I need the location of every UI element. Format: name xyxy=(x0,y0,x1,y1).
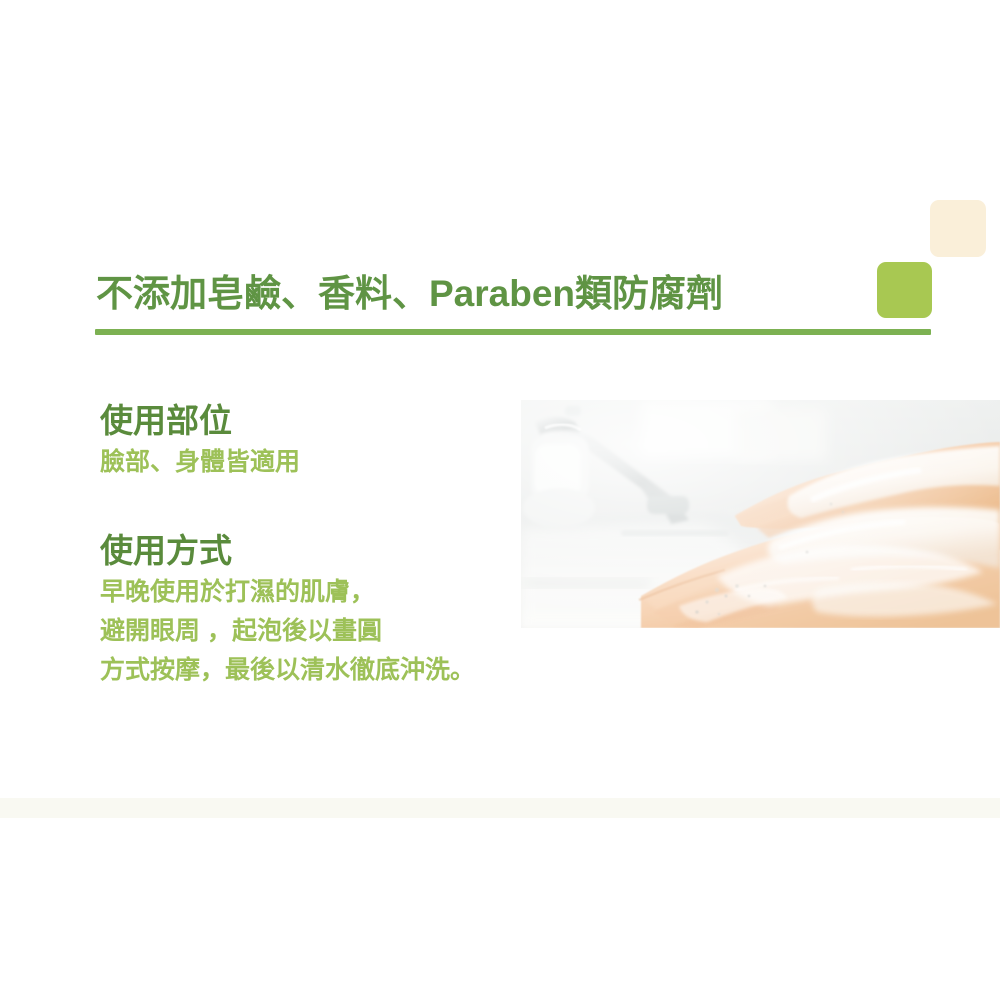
bottom-accent-band xyxy=(0,798,1000,818)
hands-washing-photo xyxy=(521,400,1000,628)
decorative-cream-square xyxy=(930,200,986,257)
section-usage-method-line-1: 早晚使用於打濕的肌膚， xyxy=(100,573,475,612)
title-block: 不添加皂鹼、香料、Paraben類防腐劑 xyxy=(96,272,936,320)
section-usage-method-line-2: 避開眼周 ，起泡後以畫圓 xyxy=(100,612,475,651)
title-underline-rule xyxy=(95,329,931,335)
hands-washing-illustration xyxy=(521,400,1000,628)
section-usage-method: 使用方式 早晚使用於打濕的肌膚， 避開眼周 ，起泡後以畫圓 方式按摩，最後以清水… xyxy=(100,529,475,690)
section-usage-area-line-1: 臉部、身體皆適用 xyxy=(100,443,300,482)
page-title: 不添加皂鹼、香料、Paraben類防腐劑 xyxy=(96,272,936,316)
slide-canvas: 不添加皂鹼、香料、Paraben類防腐劑 使用部位 臉部、身體皆適用 使用方式 … xyxy=(0,0,1000,1000)
section-usage-area-body: 臉部、身體皆適用 xyxy=(100,443,300,482)
section-usage-method-heading: 使用方式 xyxy=(100,529,475,573)
section-usage-area-heading: 使用部位 xyxy=(100,399,300,443)
section-usage-area: 使用部位 臉部、身體皆適用 xyxy=(100,399,300,482)
section-usage-method-body: 早晚使用於打濕的肌膚， 避開眼周 ，起泡後以畫圓 方式按摩，最後以清水徹底沖洗。 xyxy=(100,573,475,690)
section-usage-method-line-3: 方式按摩，最後以清水徹底沖洗。 xyxy=(100,651,475,690)
